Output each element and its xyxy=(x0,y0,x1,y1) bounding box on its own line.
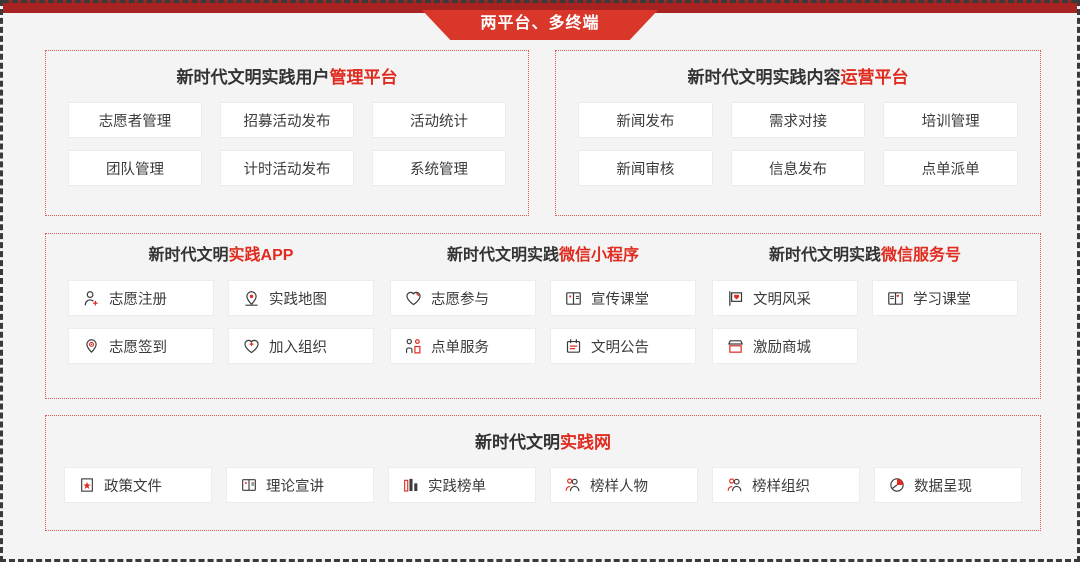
panel-ops-title: 新时代文明实践内容运营平台 xyxy=(556,69,1040,86)
terminal-miniprogram-title-accent: 微信小程序 xyxy=(559,247,639,264)
panel-ops-title-accent: 运营平台 xyxy=(841,68,909,87)
card-incentive-mall[interactable]: 激励商城 xyxy=(712,328,858,364)
card-data-presentation[interactable]: 数据呈现 xyxy=(874,467,1022,503)
card-publicity-classroom[interactable]: 宣传课堂 xyxy=(550,280,696,316)
terminal-service-account-title-dark: 新时代文明实践 xyxy=(769,247,881,264)
terminal-service-account-grid: 文明风采 学习课堂 xyxy=(712,280,1018,364)
terminal-column-service-account: 新时代文明实践微信服务号 文明风采 xyxy=(704,248,1026,364)
panel-website-title-accent: 实践网 xyxy=(560,433,611,452)
terminal-miniprogram-title: 新时代文明实践微信小程序 xyxy=(390,248,696,264)
card-timed-activity-publish[interactable]: 计时活动发布 xyxy=(220,150,354,186)
pie-chart-icon xyxy=(889,477,905,493)
people-group-icon xyxy=(405,338,422,355)
card-label: 榜样人物 xyxy=(590,475,648,496)
card-role-model-person[interactable]: 榜样人物 xyxy=(550,467,698,503)
card-label: 激励商城 xyxy=(753,336,811,357)
card-policy-documents[interactable]: 政策文件 xyxy=(64,467,212,503)
panel-content-operations-platform: 新时代文明实践内容运营平台 新闻发布 需求对接 培训管理 新闻审核 信息发布 点… xyxy=(555,50,1041,216)
card-label: 政策文件 xyxy=(104,475,162,496)
card-training-management[interactable]: 培训管理 xyxy=(883,102,1018,138)
card-order-service[interactable]: 点单服务 xyxy=(390,328,536,364)
card-label: 宣传课堂 xyxy=(591,288,649,309)
terminal-app-title: 新时代文明实践APP xyxy=(68,248,374,264)
panel-user-grid: 志愿者管理 招募活动发布 活动统计 团队管理 计时活动发布 系统管理 xyxy=(46,102,528,186)
card-recruit-activity-publish[interactable]: 招募活动发布 xyxy=(220,102,354,138)
card-volunteer-register[interactable]: 志愿注册 xyxy=(68,280,214,316)
heart-icon xyxy=(405,290,422,307)
card-label: 数据呈现 xyxy=(914,475,972,496)
panel-user-management-platform: 新时代文明实践用户管理平台 志愿者管理 招募活动发布 活动统计 团队管理 计时活… xyxy=(45,50,529,216)
card-label: 志愿注册 xyxy=(109,288,167,309)
card-news-publish[interactable]: 新闻发布 xyxy=(578,102,713,138)
card-theory-lecture[interactable]: 理论宣讲 xyxy=(226,467,374,503)
terminal-app-grid: 志愿注册 实践地图 xyxy=(68,280,374,364)
heart-plus-icon xyxy=(243,338,260,355)
terminal-column-app: 新时代文明实践APP 志愿注册 xyxy=(60,248,382,364)
card-label: 实践地图 xyxy=(269,288,327,309)
card-study-classroom[interactable]: 学习课堂 xyxy=(872,280,1018,316)
terminal-miniprogram-title-dark: 新时代文明实践 xyxy=(447,247,559,264)
card-label: 志愿参与 xyxy=(431,288,489,309)
terminal-app-title-accent: 实践APP xyxy=(229,247,294,264)
card-label: 理论宣讲 xyxy=(266,475,324,496)
card-information-publish[interactable]: 信息发布 xyxy=(731,150,866,186)
document-star-icon xyxy=(79,477,95,493)
card-role-model-organization[interactable]: 榜样组织 xyxy=(712,467,860,503)
panel-ops-title-dark: 新时代文明实践内容 xyxy=(688,68,841,87)
flag-heart-icon xyxy=(727,290,744,307)
panel-user-title: 新时代文明实践用户管理平台 xyxy=(46,69,528,86)
panel-ops-grid: 新闻发布 需求对接 培训管理 新闻审核 信息发布 点单派单 xyxy=(556,102,1040,186)
panel-website: 新时代文明实践网 政策文件 xyxy=(45,415,1041,531)
card-label: 实践榜单 xyxy=(428,475,486,496)
terminal-app-title-dark: 新时代文明 xyxy=(149,247,229,264)
terminal-miniprogram-grid: 志愿参与 宣传课堂 xyxy=(390,280,696,364)
card-join-organization[interactable]: 加入组织 xyxy=(228,328,374,364)
card-label: 学习课堂 xyxy=(913,288,971,309)
location-check-icon xyxy=(83,338,100,355)
map-pin-icon xyxy=(243,290,260,307)
banner-ribbon: 两平台、多终端 xyxy=(422,10,658,40)
two-people-icon xyxy=(727,477,743,493)
terminal-service-account-title: 新时代文明实践微信服务号 xyxy=(712,248,1018,264)
card-label: 文明公告 xyxy=(591,336,649,357)
panel-website-title-dark: 新时代文明 xyxy=(475,433,560,452)
book-icon xyxy=(887,290,904,307)
card-system-management[interactable]: 系统管理 xyxy=(372,150,506,186)
panel-user-title-dark: 新时代文明实践用户 xyxy=(177,68,330,87)
card-label: 点单服务 xyxy=(431,336,489,357)
card-practice-map[interactable]: 实践地图 xyxy=(228,280,374,316)
card-volunteer-management[interactable]: 志愿者管理 xyxy=(68,102,202,138)
card-civilization-notice[interactable]: 文明公告 xyxy=(550,328,696,364)
card-order-dispatch[interactable]: 点单派单 xyxy=(883,150,1018,186)
card-demand-matching[interactable]: 需求对接 xyxy=(731,102,866,138)
terminals-columns: 新时代文明实践APP 志愿注册 xyxy=(46,248,1040,364)
terminal-service-account-title-accent: 微信服务号 xyxy=(881,247,961,264)
card-activity-statistics[interactable]: 活动统计 xyxy=(372,102,506,138)
notice-board-icon xyxy=(565,338,582,355)
card-volunteer-checkin[interactable]: 志愿签到 xyxy=(68,328,214,364)
book-icon xyxy=(241,477,257,493)
card-team-management[interactable]: 团队管理 xyxy=(68,150,202,186)
banner-title: 两平台、多终端 xyxy=(480,16,599,34)
bar-chart-icon xyxy=(403,477,419,493)
shop-icon xyxy=(727,338,744,355)
card-label: 加入组织 xyxy=(269,336,327,357)
two-people-icon xyxy=(565,477,581,493)
card-volunteer-participate[interactable]: 志愿参与 xyxy=(390,280,536,316)
website-grid: 政策文件 理论宣讲 xyxy=(46,467,1040,503)
terminal-column-miniprogram: 新时代文明实践微信小程序 志愿参与 xyxy=(382,248,704,364)
panel-terminals: 新时代文明实践APP 志愿注册 xyxy=(45,233,1041,399)
infographic-root: 两平台、多终端 新时代文明实践用户管理平台 志愿者管理 招募活动发布 活动统计 … xyxy=(0,0,1080,562)
user-add-icon xyxy=(83,290,100,307)
card-news-review[interactable]: 新闻审核 xyxy=(578,150,713,186)
card-label: 榜样组织 xyxy=(752,475,810,496)
card-label: 文明风采 xyxy=(753,288,811,309)
card-label: 志愿签到 xyxy=(109,336,167,357)
book-icon xyxy=(565,290,582,307)
card-practice-ranking[interactable]: 实践榜单 xyxy=(388,467,536,503)
panel-website-title: 新时代文明实践网 xyxy=(46,434,1040,451)
panel-user-title-accent: 管理平台 xyxy=(330,68,398,87)
card-civilization-style[interactable]: 文明风采 xyxy=(712,280,858,316)
